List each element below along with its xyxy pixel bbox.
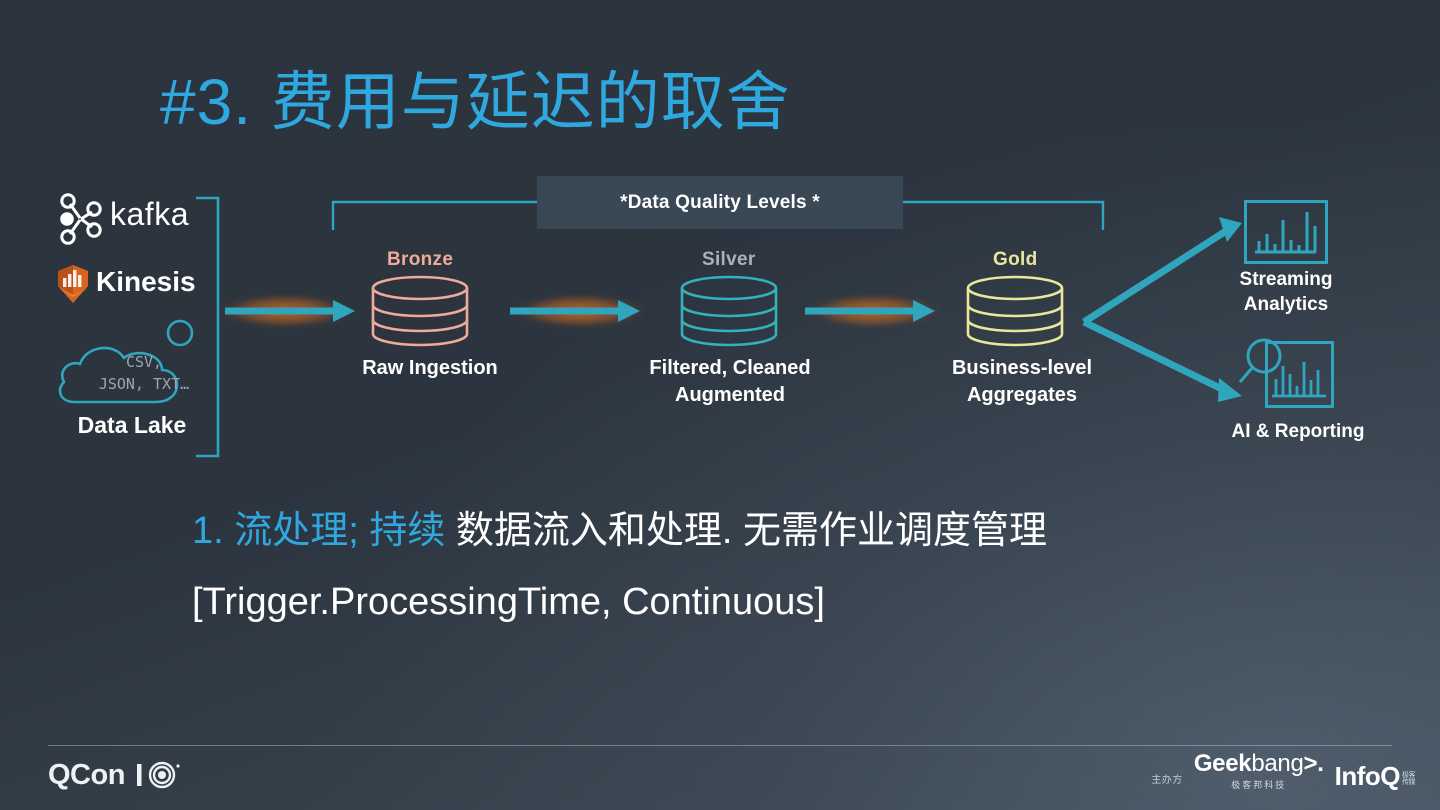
body-line-1-highlight: 1. 流处理; 持续	[192, 510, 445, 552]
output-ai-reporting-line1: AI & Reporting	[1208, 419, 1388, 444]
organizer-label: 主办方	[1151, 771, 1183, 786]
data-lake-formats: CSV, JSON, TXT…	[78, 352, 210, 396]
kafka-icon	[56, 192, 104, 246]
infoq-superscript: 极客 传媒	[1402, 772, 1416, 787]
body-line-2: [Trigger.ProcessingTime, Continuous]	[192, 581, 825, 624]
geekbang-word-a: Geek	[1194, 750, 1252, 777]
arrow-right-icon	[500, 287, 660, 335]
footer-sponsors: 主办方 Geekbang>. 极客邦科技 InfoQ 极客 传媒	[1151, 757, 1400, 791]
output-streaming-analytics-line2: Analytics	[1216, 292, 1356, 317]
geekbang-word-c: >.	[1304, 750, 1324, 777]
arrow-right-icon	[205, 287, 365, 335]
flow-arrow-2	[500, 287, 660, 335]
data-lake-label: Data Lake	[52, 412, 212, 439]
infoq-superscript-line1: 极客	[1402, 772, 1415, 779]
stage-bronze-description-line1: Raw Ingestion	[330, 355, 530, 382]
arrow-right-icon	[793, 287, 953, 335]
flow-arrow-1	[205, 287, 365, 335]
kafka-source: kafka	[56, 192, 236, 246]
geekbang-word-b: bang	[1251, 750, 1303, 777]
flow-arrow-3	[793, 287, 953, 335]
output-streaming-analytics-label: Streaming Analytics	[1216, 267, 1356, 318]
stage-silver-description: Filtered, Cleaned Augmented	[619, 355, 841, 408]
kafka-label: kafka	[110, 196, 189, 233]
data-quality-banner: *Data Quality Levels *	[537, 176, 903, 229]
data-lake-formats-line1: CSV,	[78, 352, 210, 374]
stage-bronze-description: Raw Ingestion	[330, 355, 530, 382]
qcon-io-icon	[135, 760, 183, 790]
data-quality-banner-label: *Data Quality Levels *	[620, 192, 820, 214]
qcon-wordmark: QCon	[48, 759, 125, 792]
body-line-1: 1. 流处理; 持续 数据流入和处理. 无需作业调度管理	[192, 499, 1047, 554]
footer-divider	[48, 745, 1392, 746]
gold-cylinder-icon	[965, 275, 1066, 347]
geekbang-logo: Geekbang>. 极客邦科技	[1194, 752, 1324, 791]
stage-silver-name: Silver	[702, 249, 756, 271]
qcon-logo: QCon	[48, 758, 183, 792]
page-title: #3. 费用与延迟的取舍	[160, 70, 791, 134]
infoq-wordmark: InfoQ	[1335, 761, 1400, 791]
output-streaming-analytics-line1: Streaming	[1216, 267, 1356, 292]
output-ai-reporting-label: AI & Reporting	[1208, 419, 1388, 444]
infoq-superscript-line2: 传媒	[1402, 779, 1415, 786]
data-lake-formats-line2: JSON, TXT…	[78, 374, 210, 396]
bar-chart-icon	[1244, 200, 1328, 264]
infoq-logo: InfoQ 极客 传媒	[1335, 763, 1400, 789]
stage-bronze-name: Bronze	[387, 249, 453, 271]
stage-silver-description-line2: Augmented	[619, 382, 841, 409]
kinesis-label: Kinesis	[96, 266, 196, 298]
body-line-1-rest: 数据流入和处理. 无需作业调度管理	[445, 510, 1047, 552]
slide-canvas: #3. 费用与延迟的取舍 kafka	[0, 0, 1440, 810]
bronze-cylinder-icon	[370, 275, 471, 347]
geekbang-wordmark: Geekbang>.	[1194, 752, 1324, 776]
kinesis-icon	[56, 264, 90, 304]
stage-silver-description-line1: Filtered, Cleaned	[619, 355, 841, 382]
magnifier-bar-chart-icon	[1238, 336, 1338, 416]
silver-cylinder-icon	[679, 275, 780, 347]
geekbang-subtitle: 极客邦科技	[1231, 778, 1286, 791]
stage-gold-name: Gold	[993, 249, 1037, 271]
